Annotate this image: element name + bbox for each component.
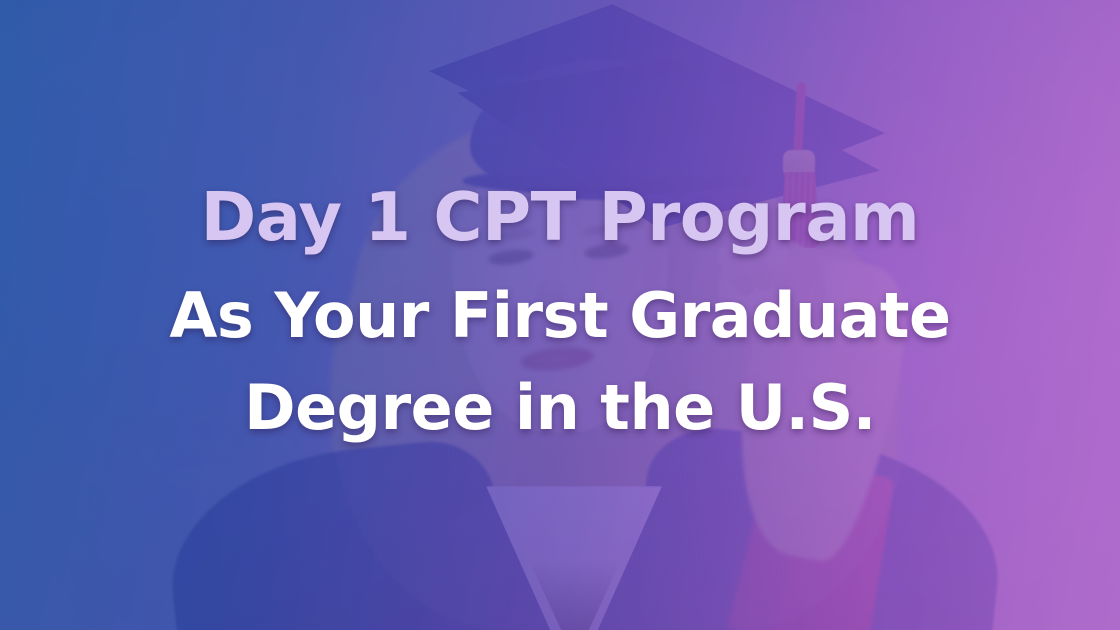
promo-banner: Day 1 CPT Program As Your First Graduate… [0, 0, 1120, 630]
headline-line-3: Degree in the U.S. [244, 377, 876, 439]
headline-line-1: Day 1 CPT Program [201, 184, 920, 251]
headline-block: Day 1 CPT Program As Your First Graduate… [0, 0, 1120, 630]
headline-line-2: As Your First Graduate [169, 285, 950, 347]
